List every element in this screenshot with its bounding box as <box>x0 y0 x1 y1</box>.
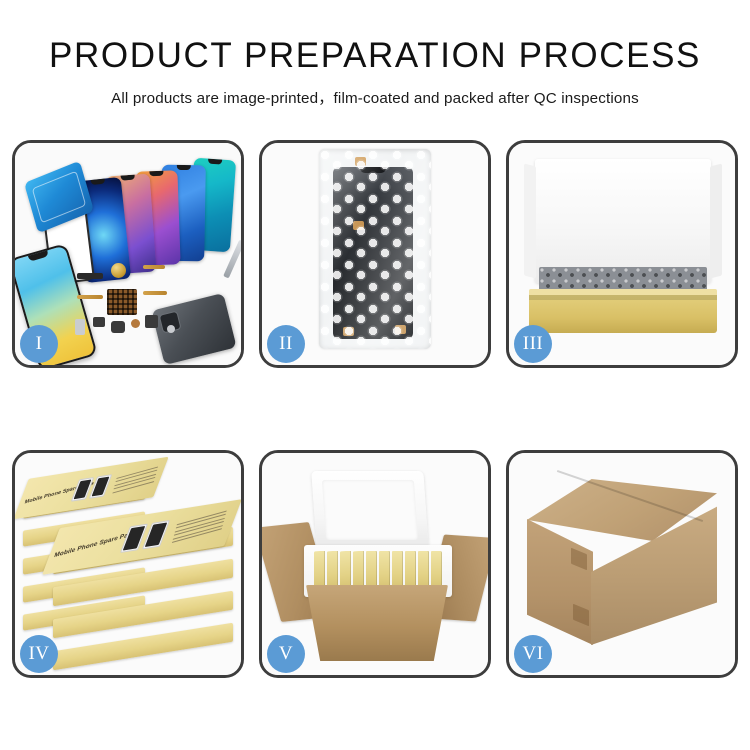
flex-cable-icon <box>143 265 165 269</box>
flex-cable-icon <box>143 291 167 295</box>
step-panel-4[interactable]: Mobile Phone Spare Parts Mobile Phone Sp… <box>12 450 244 678</box>
box-stack-icon: Mobile Phone Spare Parts Mobile Phone Sp… <box>21 463 239 671</box>
page-title: PRODUCT PREPARATION PROCESS <box>0 38 750 75</box>
speaker-module-icon <box>77 273 103 279</box>
yellow-box-body-icon <box>529 295 717 333</box>
step-panel-3[interactable]: III <box>506 140 738 368</box>
page-subtitle: All products are image-printed，film-coat… <box>0 86 750 108</box>
carton-body-icon <box>306 585 448 661</box>
camera-module-icon <box>93 317 105 327</box>
plastic-sheen <box>319 149 431 349</box>
step-badge-3: III <box>514 325 552 363</box>
screw-icon <box>167 325 175 333</box>
screw-icon <box>131 319 140 328</box>
step-panel-2[interactable]: II <box>259 140 491 368</box>
step-panel-6[interactable]: VI <box>506 450 738 678</box>
process-steps-grid: I II III <box>12 140 738 678</box>
foam-lid-icon <box>535 159 711 283</box>
step-badge-2: II <box>267 325 305 363</box>
step-badge-5: V <box>267 635 305 673</box>
sealed-carton-icon <box>525 479 721 647</box>
box-top-face-rear: Mobile Phone Spare Parts <box>15 457 169 520</box>
box-print-lines <box>171 511 227 546</box>
step-panel-5[interactable]: V <box>259 450 491 678</box>
vibrator-icon <box>145 315 158 328</box>
sim-tray-icon <box>75 319 85 335</box>
taptic-engine-icon <box>111 263 126 278</box>
battery-connector-icon <box>111 321 125 333</box>
box-print-lines <box>112 467 158 496</box>
step-badge-6: VI <box>514 635 552 673</box>
bubble-wrap-bag-icon <box>319 149 431 349</box>
step-badge-1: I <box>20 325 58 363</box>
step-panel-1[interactable]: I <box>12 140 244 368</box>
flex-cable-icon <box>77 295 103 299</box>
foam-box-lid-icon <box>311 471 428 549</box>
page-header: PRODUCT PREPARATION PROCESS All products… <box>0 0 750 108</box>
step-badge-4: IV <box>20 635 58 673</box>
logic-board-icon <box>107 289 137 315</box>
carton-left-face <box>527 519 593 645</box>
